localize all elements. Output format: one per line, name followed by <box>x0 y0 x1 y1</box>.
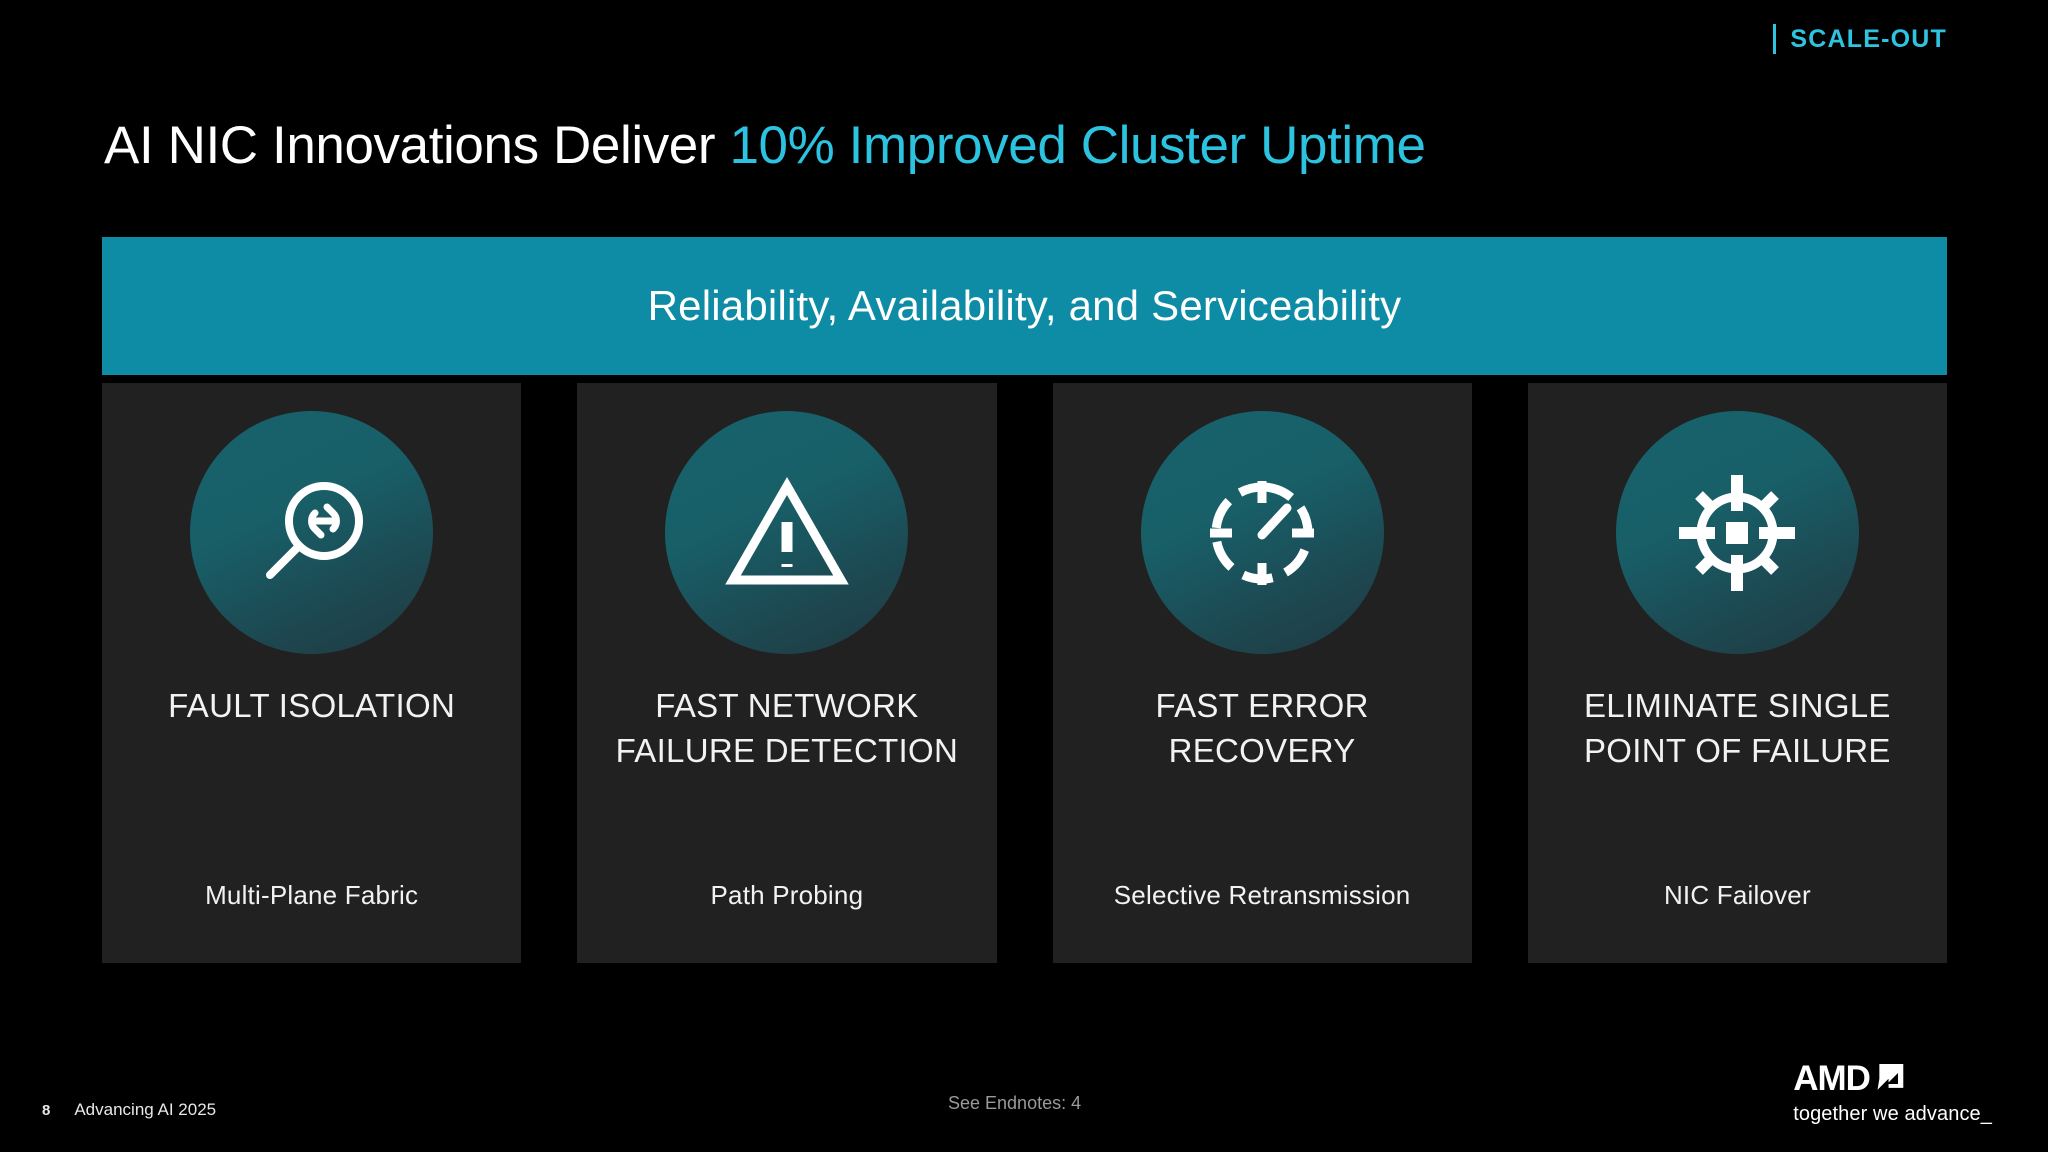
amd-logo: AMD together we advance_ <box>1793 1061 1992 1126</box>
ras-banner: Reliability, Availability, and Serviceab… <box>102 237 1947 375</box>
page-title: AI NIC Innovations Deliver 10% Improved … <box>104 115 1426 176</box>
feature-card-grid: FAULT ISOLATION Multi-Plane Fabric FAST … <box>102 383 1947 963</box>
footer-event-label: Advancing AI 2025 <box>74 1100 216 1120</box>
warning-triangle-icon <box>665 411 908 654</box>
feature-card-subtitle: Selective Retransmission <box>1114 880 1411 911</box>
feature-card-heading: FAST ERROR RECOVERY <box>1053 684 1472 776</box>
feature-card-subtitle: NIC Failover <box>1664 880 1811 911</box>
feature-card-subtitle: Path Probing <box>711 880 864 911</box>
feature-card-fast-error-recovery[interactable]: FAST ERROR RECOVERY Selective Retransmis… <box>1053 383 1472 963</box>
feature-card-fault-isolation[interactable]: FAULT ISOLATION Multi-Plane Fabric <box>102 383 521 963</box>
eyebrow-scale-out: SCALE-OUT <box>1773 24 1947 54</box>
crosshair-target-icon <box>1616 411 1859 654</box>
amd-wordmark: AMD <box>1793 1061 1992 1096</box>
magnifier-link-icon <box>190 411 433 654</box>
amd-tagline: together we advance_ <box>1793 1103 1992 1126</box>
stopwatch-dial-icon <box>1141 411 1384 654</box>
feature-card-subtitle: Multi-Plane Fabric <box>205 880 418 911</box>
feature-card-heading: FAULT ISOLATION <box>150 684 473 776</box>
footer-left: 8 Advancing AI 2025 <box>42 1100 216 1120</box>
amd-wordmark-text: AMD <box>1793 1061 1870 1096</box>
feature-card-heading: FAST NETWORK FAILURE DETECTION <box>577 684 996 776</box>
feature-card-eliminate-single-point-of-failure[interactable]: ELIMINATE SINGLE POINT OF FAILURE NIC Fa… <box>1528 383 1947 963</box>
page-number: 8 <box>42 1102 50 1119</box>
eyebrow-divider-icon <box>1773 24 1776 54</box>
page-title-lead: AI NIC Innovations Deliver <box>104 116 729 175</box>
endnotes-note: See Endnotes: 4 <box>948 1093 1081 1114</box>
eyebrow-label: SCALE-OUT <box>1790 25 1947 54</box>
ras-banner-text: Reliability, Availability, and Serviceab… <box>648 282 1402 330</box>
feature-card-heading: ELIMINATE SINGLE POINT OF FAILURE <box>1528 684 1947 776</box>
amd-arrow-icon <box>1874 1062 1908 1096</box>
feature-card-fast-network-failure-detection[interactable]: FAST NETWORK FAILURE DETECTION Path Prob… <box>577 383 996 963</box>
page-title-accent: 10% Improved Cluster Uptime <box>729 116 1425 175</box>
